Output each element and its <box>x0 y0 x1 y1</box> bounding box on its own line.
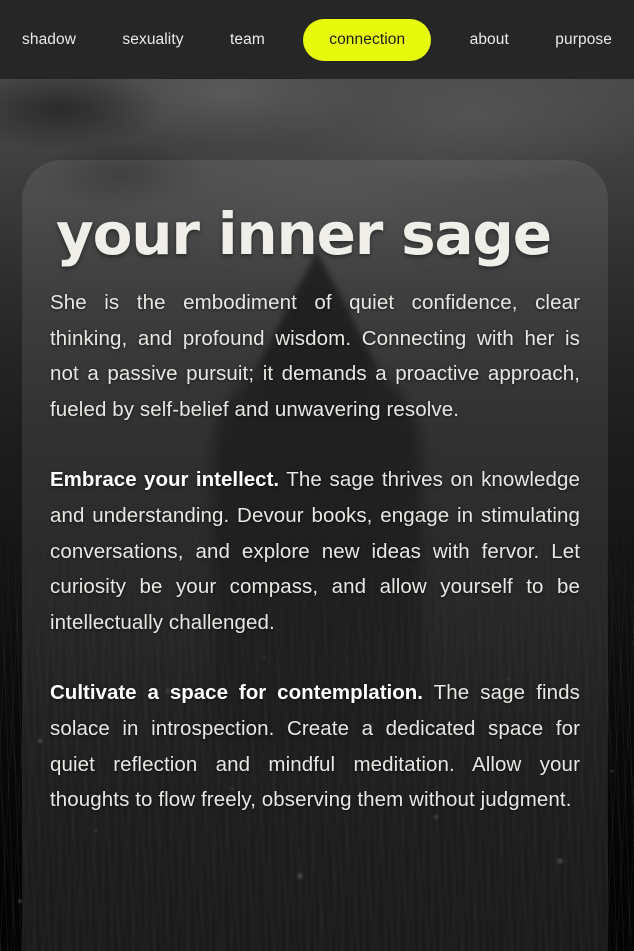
nav-item-about[interactable]: about <box>462 25 517 55</box>
nav-item-purpose[interactable]: purpose <box>547 25 620 55</box>
paragraph-text: She is the embodiment of quiet confidenc… <box>50 291 580 421</box>
page-root: shadow sexuality team connection about p… <box>0 0 634 951</box>
paragraph-lead: Cultivate a space for contemplation. <box>50 681 423 704</box>
paragraph-embrace-intellect: Embrace your intellect. The sage thrives… <box>50 462 580 640</box>
nav-item-sexuality[interactable]: sexuality <box>114 25 191 55</box>
page-title: your inner sage <box>28 205 602 263</box>
paragraph-text: The sage thrives on knowledge and unders… <box>50 468 580 633</box>
nav-item-connection[interactable]: connection <box>303 19 431 61</box>
content-card: your inner sage She is the embodiment of… <box>22 160 608 951</box>
nav-item-team[interactable]: team <box>222 25 273 55</box>
top-navigation: shadow sexuality team connection about p… <box>0 0 634 79</box>
nav-item-shadow[interactable]: shadow <box>14 25 84 55</box>
paragraph-lead: Embrace your intellect. <box>50 468 279 491</box>
paragraph-cultivate-space: Cultivate a space for contemplation. The… <box>50 675 580 817</box>
paragraph-intro: She is the embodiment of quiet confidenc… <box>50 285 580 427</box>
card-body: She is the embodiment of quiet confidenc… <box>28 285 602 818</box>
